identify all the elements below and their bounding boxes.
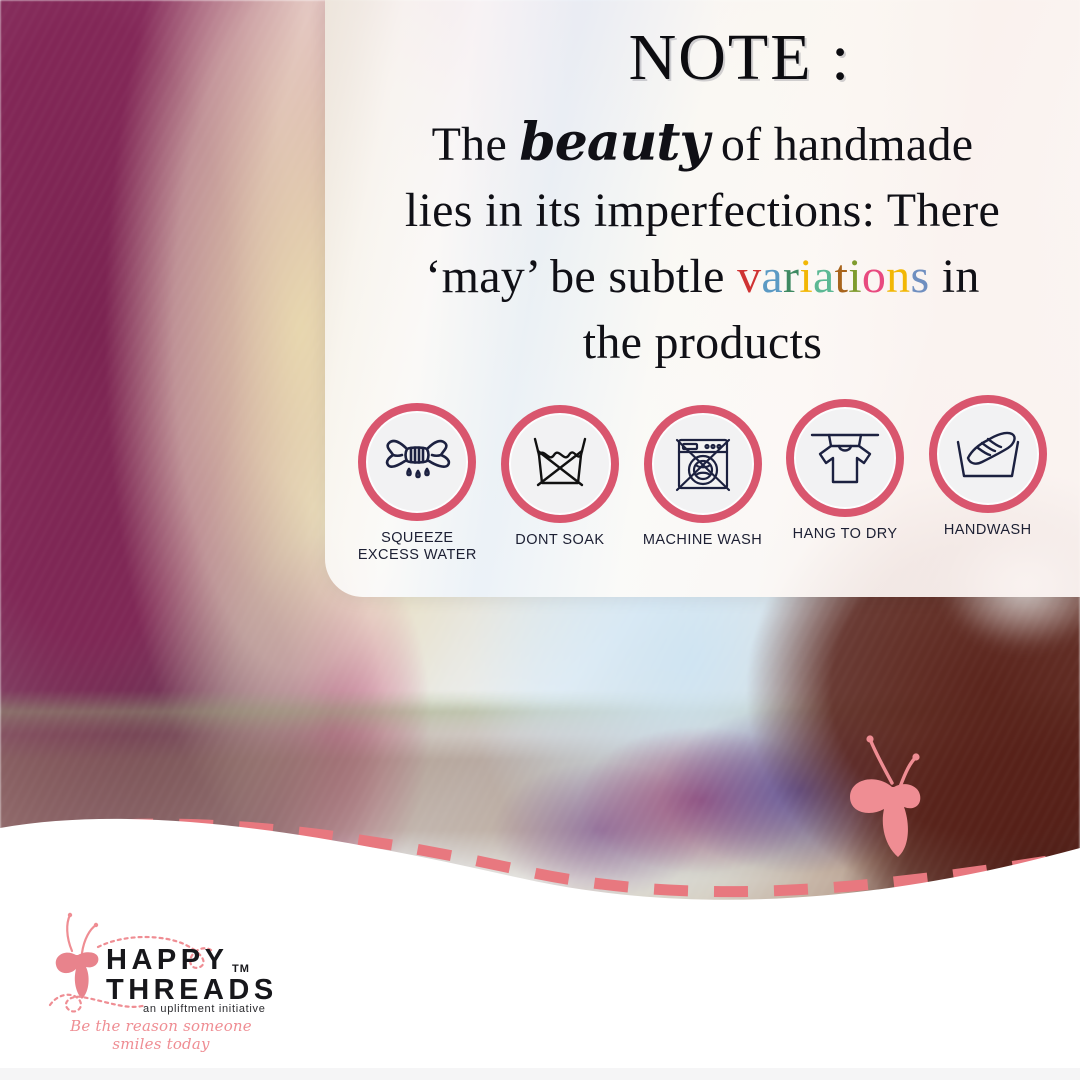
care-item-dont-soak[interactable]: DONT SOAK [498, 405, 623, 549]
logo-trademark-icon: TM [232, 963, 250, 975]
bottom-strip [0, 1068, 1080, 1080]
care-label-machine-wash: MACHINE WASH [643, 532, 762, 549]
variations-letter-9: s [910, 250, 929, 303]
care-item-machine-wash[interactable]: MACHINE WASH [640, 405, 765, 549]
note-line-3: ‘may’ be subtle variations in [343, 244, 1062, 310]
note-line-1: The beauty of handmade [343, 110, 1062, 178]
note-text-in: in [929, 250, 979, 303]
tshirt-on-line-icon [810, 426, 880, 490]
logo-line-threads: THREADS [106, 974, 278, 1006]
variations-letter-0: v [737, 250, 761, 303]
hand-in-basin-icon [954, 424, 1022, 484]
care-icon-ring-hang-to-dry [786, 399, 904, 517]
logo-tagline: Be the reason someone smiles today [46, 1017, 276, 1053]
crossed-washing-machine-icon [671, 432, 735, 496]
care-icon-ring-dont-soak [501, 405, 619, 523]
crossed-water-basin-icon [527, 433, 593, 495]
variations-letter-8: n [886, 250, 910, 303]
variations-letter-3: i [799, 250, 813, 303]
care-icon-ring-handwash [929, 395, 1047, 513]
note-text-of-handmade: of handmade [709, 118, 974, 171]
note-text-beauty: beauty [519, 112, 708, 173]
care-icon-ring-squeeze [358, 403, 476, 521]
care-label-squeeze-excess-water: SQUEEZE EXCESS WATER [357, 530, 477, 564]
note-line-2: lies in its imperfections: There [343, 178, 1062, 244]
note-card: NOTE : The beauty of handmade lies in it… [325, 0, 1080, 597]
logo-line-happy: HAPPY [106, 944, 228, 976]
note-body: The beauty of handmade lies in its imper… [343, 110, 1062, 376]
logo-subtitle: an upliftment initiative [143, 1003, 266, 1015]
note-text-may-be-subtle: ‘may’ be subtle [425, 250, 737, 303]
note-text-variations: variations [737, 250, 929, 303]
note-text-the-products: the products [583, 316, 823, 369]
care-label-handwash: HANDWASH [944, 522, 1032, 539]
care-item-handwash[interactable]: HANDWASH [925, 395, 1050, 539]
care-label-hang-to-dry: HANG TO DRY [793, 526, 898, 543]
variations-letter-5: t [835, 250, 849, 303]
care-label-dont-soak: DONT SOAK [515, 532, 604, 549]
note-text-imperfections: lies in its imperfections: There [405, 184, 1000, 237]
note-line-4: the products [343, 310, 1062, 376]
variations-letter-2: r [783, 250, 799, 303]
variations-letter-7: o [862, 250, 886, 303]
variations-letter-4: a [813, 250, 835, 303]
care-item-hang-to-dry[interactable]: HANG TO DRY [783, 399, 908, 543]
variations-letter-1: a [761, 250, 783, 303]
logo-wordmark: HAPPY THREADS [106, 945, 278, 1005]
note-text-the: The [432, 118, 520, 171]
twisted-cloth-drip-icon [381, 431, 453, 493]
care-icon-row: SQUEEZE EXCESS WATER [325, 403, 1080, 564]
variations-letter-6: i [848, 250, 862, 303]
care-item-squeeze-excess-water[interactable]: SQUEEZE EXCESS WATER [355, 403, 480, 564]
poster-canvas: NOTE : The beauty of handmade lies in it… [0, 0, 1080, 1080]
note-title: NOTE : [325, 20, 1080, 96]
care-icon-ring-machine-wash [644, 405, 762, 523]
brand-logo[interactable]: HAPPY THREADS TM an upliftment initiativ… [36, 905, 276, 1050]
